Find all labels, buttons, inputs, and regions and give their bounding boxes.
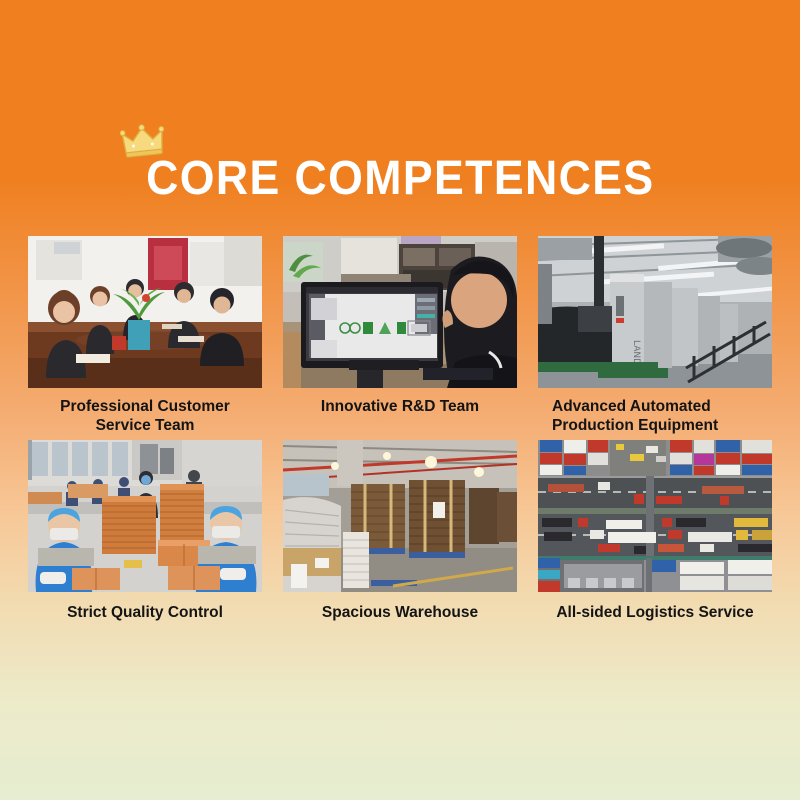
competence-card-innovative-rd-team[interactable]: Innovative R&D Team: [283, 236, 517, 435]
card-caption: Spacious Warehouse: [283, 592, 517, 622]
photo-designer-workstation: [283, 236, 517, 388]
photo-meeting-room: [28, 236, 262, 388]
photo-printing-press: LAND: [538, 236, 772, 388]
svg-text:LAND: LAND: [631, 340, 641, 365]
card-caption: Innovative R&D Team: [283, 388, 517, 416]
card-caption: Strict Quality Control: [28, 592, 262, 622]
photo-quality-control: [28, 440, 262, 592]
competence-grid: Professional Customer Service Team: [28, 236, 772, 622]
card-caption: Advanced Automated Production Equipment: [538, 388, 772, 435]
page-title: CORE COMPETENCES: [146, 150, 654, 208]
title-inner: CORE COMPETENCES: [127, 150, 674, 208]
core-competences-banner: CORE COMPETENCES: [0, 0, 800, 800]
competence-card-spacious-warehouse[interactable]: Spacious Warehouse: [283, 440, 517, 622]
photo-warehouse: [283, 440, 517, 592]
photo-logistics-aerial: [538, 440, 772, 592]
competence-card-strict-quality-control[interactable]: Strict Quality Control: [28, 440, 262, 622]
card-caption: Professional Customer Service Team: [28, 388, 262, 435]
title-block: CORE COMPETENCES: [0, 150, 800, 208]
competence-card-professional-customer-service-team[interactable]: Professional Customer Service Team: [28, 236, 262, 435]
card-caption: All-sided Logistics Service: [538, 592, 772, 622]
competence-card-advanced-automated-production-equipment[interactable]: LAND: [538, 236, 772, 435]
competence-card-all-sided-logistics-service[interactable]: All-sided Logistics Service: [538, 440, 772, 622]
